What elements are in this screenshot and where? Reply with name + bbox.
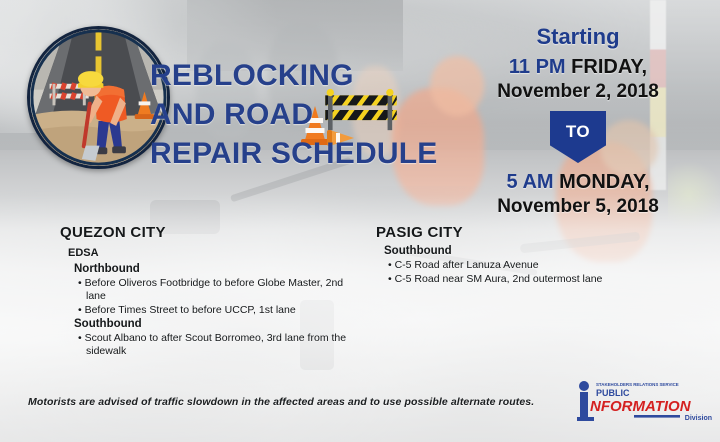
start-day: FRIDAY, <box>571 56 647 78</box>
headline-line-1: REBLOCKING <box>150 56 400 95</box>
page-title: REBLOCKING AND ROAD REPAIR SCHEDULE <box>150 56 400 173</box>
end-time: 5 AM <box>507 171 554 193</box>
start-date: November 2, 2018 <box>436 81 720 103</box>
reblocking-schedule-poster: REBLOCKING AND ROAD REPAIR SCHEDULE Star… <box>0 0 720 442</box>
advisory-note: Motorists are advised of traffic slowdow… <box>28 396 568 408</box>
schedule-window: Starting 11 PM FRIDAY, November 2, 2018 … <box>436 24 720 218</box>
direction-heading: Southbound <box>74 318 360 330</box>
closure-list: C-5 Road after Lanuza Avenue C-5 Road ne… <box>388 259 676 286</box>
start-time: 11 PM <box>509 56 566 78</box>
list-item: Scout Albano to after Scout Borromeo, 3r… <box>78 332 360 358</box>
public-information-division-logo: STAKEHOLDERS RELATIONS SERVICE PUBLIC NF… <box>574 377 714 425</box>
road-name: EDSA <box>68 247 360 259</box>
list-item: C-5 Road near SM Aura, 2nd outermost lan… <box>388 273 676 286</box>
headline-line-3: REPAIR SCHEDULE <box>150 134 400 173</box>
logo-line-1: PUBLIC <box>596 388 630 398</box>
logo-line-2: NFORMATION <box>590 398 692 415</box>
closure-list: Before Oliveros Footbridge to before Glo… <box>78 277 360 317</box>
closure-list: Scout Albano to after Scout Borromeo, 3r… <box>78 332 360 358</box>
city-name: PASIG CITY <box>376 224 676 241</box>
city-name: QUEZON CITY <box>60 224 360 241</box>
headline-line-2: AND ROAD <box>150 95 400 134</box>
logo-top-line: STAKEHOLDERS RELATIONS SERVICE <box>596 382 679 387</box>
list-item: Before Oliveros Footbridge to before Glo… <box>78 277 360 303</box>
direction-heading: Southbound <box>384 245 676 257</box>
list-item: Before Times Street to before UCCP, 1st … <box>78 304 360 317</box>
end-day: MONDAY, <box>559 171 649 193</box>
to-badge: TO <box>550 111 606 163</box>
city-block-pasig-city: PASIG CITY Southbound C-5 Road after Lan… <box>376 224 676 287</box>
end-datetime-line: 5 AM MONDAY, <box>436 171 720 194</box>
starting-label: Starting <box>436 24 720 50</box>
road-worker-badge-icon <box>27 26 170 169</box>
logo-line-3: Division <box>685 415 712 422</box>
end-date: November 5, 2018 <box>436 196 720 218</box>
list-item: C-5 Road after Lanuza Avenue <box>388 259 676 272</box>
to-label: TO <box>566 122 590 152</box>
start-datetime-line: 11 PM FRIDAY, <box>436 56 720 79</box>
direction-heading: Northbound <box>74 263 360 275</box>
city-block-quezon-city: QUEZON CITY EDSA Northbound Before Olive… <box>60 224 360 359</box>
